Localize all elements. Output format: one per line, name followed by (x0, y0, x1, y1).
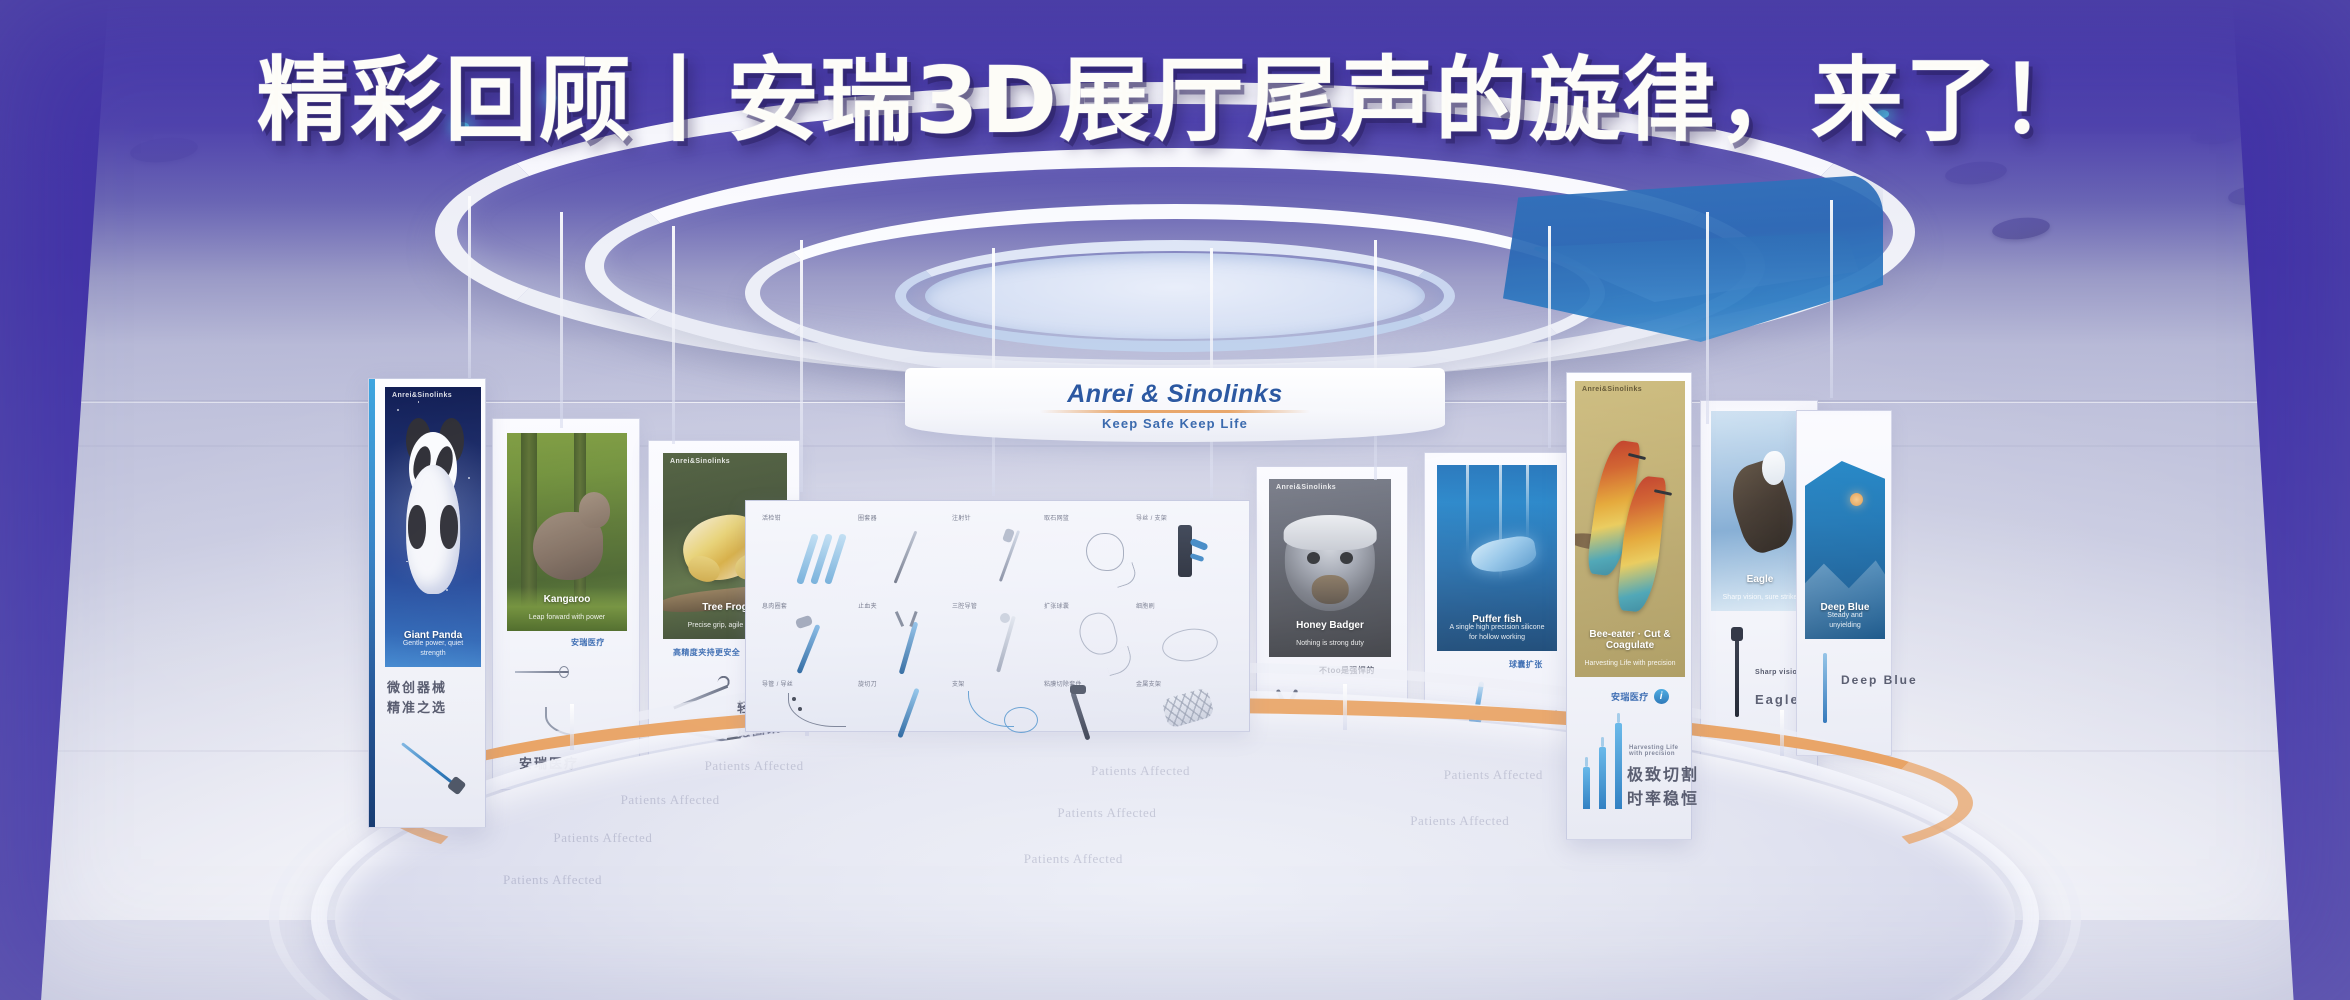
kiosk-instrument-bars (1583, 725, 1622, 809)
poster-subline: Nothing is strong duty (1277, 639, 1383, 648)
kiosk-accent-stripe (369, 379, 375, 827)
product-label: 细胞刷 (1136, 601, 1155, 610)
poster-honey-badger[interactable]: Anrei&Sinolinks Honey Badger Nothing is … (1269, 479, 1391, 657)
kiosk-small-caption: Harvesting Life with precision (1629, 745, 1687, 757)
floor-rail-post (1780, 710, 1784, 756)
kiosk-panda-caption-2: 精准之选 (387, 699, 447, 716)
ceiling-ring-core-fill (925, 253, 1425, 339)
product-label: 圈套器 (858, 513, 877, 522)
hanging-rod (1548, 226, 1551, 448)
poster-panda[interactable]: Anrei&Sinolinks Giant Panda Gentle power… (385, 387, 481, 667)
bar-1 (1583, 767, 1590, 809)
badger-snout (1312, 575, 1349, 603)
product-triple-lumen-catheter (994, 613, 1042, 677)
instrument-jaw (717, 676, 729, 688)
panel-brand-caption: 安瑞医疗 (571, 637, 605, 648)
poster-brand-mark: Anrei&Sinolinks (1582, 386, 1642, 393)
kiosk-brand-cn: 安瑞医疗 (1611, 690, 1649, 703)
product-label: 导丝 / 支架 (1136, 513, 1167, 522)
hanging-rod (1374, 240, 1377, 480)
circular-floor-stage: Patients Affected Patients Affected Pati… (335, 708, 2015, 1000)
poster-brand-mark: Anrei&Sinolinks (392, 392, 452, 399)
poster-subline: A single high precision silicone for hol… (1445, 623, 1549, 642)
product-label: 止血夹 (858, 601, 877, 610)
panel-balloon-caption: 球囊扩张 (1509, 659, 1543, 670)
product-label: 金属支架 (1136, 679, 1161, 688)
product-catalogue-wall[interactable]: 活检钳 圈套器 注射针 取石网篮 导丝 / 支架 息肉圈套 止血夹 三腔导管 (745, 500, 1250, 732)
floor-rail-post (1343, 684, 1347, 730)
instrument-tip (559, 666, 569, 678)
poster-headline: Bee-eater · Cut & Coagulate (1583, 629, 1677, 651)
hanging-rod (672, 226, 675, 444)
floor-text-row: Patients Affected (503, 872, 602, 888)
product-label: 活检钳 (762, 513, 781, 522)
panel-iceberg-text: Deep Blue (1841, 673, 1918, 689)
ocean-creature (1468, 534, 1537, 576)
hanging-rod (560, 212, 563, 428)
product-needle-knife (904, 529, 944, 587)
kiosk-headline-cn-2: 时率稳恒 (1627, 789, 1699, 810)
kiosk-panda-caption: 微创器械 (387, 679, 447, 696)
kangaroo-head (579, 492, 610, 528)
poster-subline: Sharp vision, sure strike (1719, 593, 1801, 602)
instrument-biopsy-forceps (381, 719, 482, 818)
kiosk-brand-row: 安瑞医疗 i (1611, 689, 1669, 704)
instrument-snare (515, 663, 569, 681)
product-label: 三腔导管 (952, 601, 977, 610)
product-label: 取石网篮 (1044, 513, 1069, 522)
product-catheter-curve (788, 693, 858, 731)
exhibition-banner: Anrei & Sinolinks Keep Safe Keep Life An… (0, 0, 2350, 1000)
product-stent-wire (968, 691, 1050, 737)
floor-rail-post (570, 704, 574, 750)
product-stone-basket (1082, 529, 1136, 587)
product-dilator-set (804, 533, 852, 587)
bar-2 (1599, 747, 1606, 809)
brand-logo-text: Anrei & Sinolinks (905, 380, 1445, 409)
panda-arm-left (408, 505, 426, 550)
poster-subline: Gentle power, quiet strength (393, 639, 473, 658)
product-label: 注射针 (952, 513, 971, 522)
badger-head-cap (1284, 515, 1377, 551)
kiosk-panda[interactable]: Anrei&Sinolinks Giant Panda Gentle power… (368, 378, 486, 828)
kiosk-birds[interactable]: Anrei&Sinolinks Bee-eater · Cut & Coagul… (1566, 372, 1692, 840)
ceiling-glow-light (1877, 110, 1889, 118)
product-hemostasis-clip (892, 611, 948, 677)
product-dilation-balloon (1076, 611, 1136, 677)
hanging-rod (1706, 212, 1709, 424)
poster-headline: Eagle (1719, 574, 1801, 585)
info-icon: i (1654, 689, 1669, 704)
poster-subline: Steady and unyielding (1813, 611, 1877, 630)
bar-3 (1615, 723, 1622, 809)
iceberg-sun (1850, 493, 1863, 506)
brand-tagline: Keep Safe Keep Life (905, 416, 1445, 431)
product-mucosal-resection-kit (1064, 685, 1122, 741)
hanging-rod (800, 240, 803, 492)
poster-subline: Harvesting Life with precision (1583, 659, 1677, 668)
panel-frog-caption: 高精度夹持更安全 (673, 647, 740, 658)
product-label: 旋切刀 (858, 679, 877, 688)
panda-arm-right (440, 505, 458, 550)
product-cytology-brush (1162, 625, 1224, 669)
product-label: 息肉圈套 (762, 601, 787, 610)
poster-headline: Kangaroo (515, 594, 619, 605)
product-polypectomy-snare (794, 617, 854, 677)
poster-headline: Honey Badger (1277, 620, 1383, 631)
hanging-rod (468, 196, 471, 386)
product-rotational-cutter (894, 687, 944, 743)
product-label: 支架 (952, 679, 965, 688)
ceiling-glow-light (453, 122, 469, 130)
brand-underline (1040, 410, 1310, 413)
hanging-rod (1830, 200, 1833, 398)
poster-bee-eaters[interactable]: Anrei&Sinolinks Bee-eater · Cut & Coagul… (1575, 381, 1685, 677)
product-guidewire-handle (1170, 525, 1218, 587)
brand-logo-band: Anrei & Sinolinks Keep Safe Keep Life (905, 368, 1445, 442)
kiosk-headline-cn: 极致切割 (1627, 765, 1699, 786)
product-metal-stent (1160, 689, 1218, 735)
poster-subline: Leap forward with power (515, 613, 619, 622)
product-label: 导管 / 导丝 (762, 679, 793, 688)
panel-eagle-text: Eagle (1755, 691, 1800, 708)
product-injection-needle (1002, 529, 1038, 587)
product-label: 扩张球囊 (1044, 601, 1069, 610)
ceiling-glow-light (547, 94, 557, 102)
